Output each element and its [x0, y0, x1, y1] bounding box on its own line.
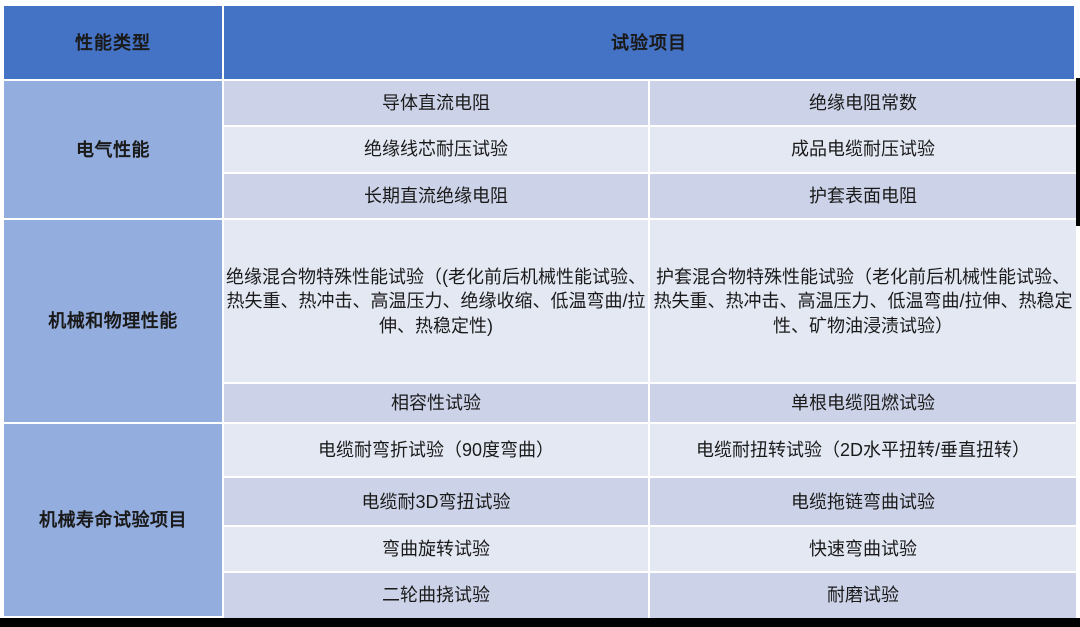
category-cell-mechanical-life: 机械寿命试验项目	[4, 424, 224, 618]
table-header-row: 性能类型 试验项目	[4, 6, 1076, 81]
table-row: 电气性能 导体直流电阻 绝缘电阻常数	[4, 81, 1076, 126]
test-item-cell: 弯曲旋转试验	[224, 527, 650, 572]
test-item-cell: 耐磨试验	[650, 573, 1076, 618]
test-item-cell: 电缆耐弯折试验（90度弯曲）	[224, 424, 650, 478]
page-backdrop-bottom	[0, 618, 1080, 627]
test-item-cell: 单根电缆阻燃试验	[650, 384, 1076, 423]
page-backdrop-right	[1076, 78, 1080, 226]
test-item-cell: 电缆拖链弯曲试验	[650, 478, 1076, 527]
test-item-cell: 快速弯曲试验	[650, 527, 1076, 572]
test-item-cell: 电缆耐扭转试验（2D水平扭转/垂直扭转）	[650, 424, 1076, 478]
test-item-cell: 成品电缆耐压试验	[650, 127, 1076, 174]
category-cell-mechanical-physical: 机械和物理性能	[4, 220, 224, 423]
test-item-cell: 绝缘混合物特殊性能试验（(老化前后机械性能试验、热失重、热冲击、高温压力、绝缘收…	[224, 220, 650, 384]
header-cell-category: 性能类型	[4, 6, 224, 81]
header-cell-test-items: 试验项目	[224, 6, 1076, 81]
test-item-cell: 护套表面电阻	[650, 174, 1076, 220]
test-item-cell: 护套混合物特殊性能试验（老化前后机械性能试验、热失重、热冲击、高温压力、低温弯曲…	[650, 220, 1076, 384]
performance-test-table: 性能类型 试验项目 电气性能 导体直流电阻 绝缘电阻常数 绝缘线芯耐压试验 成品…	[4, 6, 1076, 618]
table-row: 机械寿命试验项目 电缆耐弯折试验（90度弯曲） 电缆耐扭转试验（2D水平扭转/垂…	[4, 424, 1076, 478]
table-row: 机械和物理性能 绝缘混合物特殊性能试验（(老化前后机械性能试验、热失重、热冲击、…	[4, 220, 1076, 384]
test-item-cell: 相容性试验	[224, 384, 650, 423]
test-item-cell: 绝缘电阻常数	[650, 81, 1076, 126]
test-item-cell: 二轮曲挠试验	[224, 573, 650, 618]
category-cell-electrical: 电气性能	[4, 81, 224, 220]
test-item-cell: 长期直流绝缘电阻	[224, 174, 650, 220]
test-item-cell: 导体直流电阻	[224, 81, 650, 126]
test-item-cell: 绝缘线芯耐压试验	[224, 127, 650, 174]
screenshot-canvas: 性能类型 试验项目 电气性能 导体直流电阻 绝缘电阻常数 绝缘线芯耐压试验 成品…	[0, 0, 1080, 627]
test-item-cell: 电缆耐3D弯扭试验	[224, 478, 650, 527]
